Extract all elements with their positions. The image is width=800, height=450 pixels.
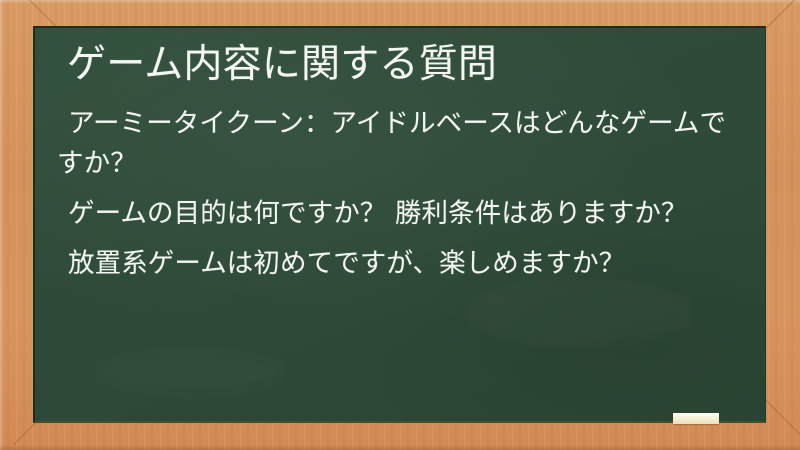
chalk-smudge	[465, 278, 695, 348]
frame-bevel-top	[0, 0, 800, 4]
list-item: アーミータイクーン：アイドルベースはどんなゲームですか？	[57, 104, 747, 184]
frame-bevel-left	[0, 0, 4, 450]
list-item: ゲームの目的は何ですか？ 勝利条件はありますか？	[57, 194, 747, 234]
question-list: アーミータイクーン：アイドルベースはどんなゲームですか？ ゲームの目的は何ですか…	[57, 104, 747, 284]
chalk-smudge	[95, 348, 285, 396]
chalk-stick	[673, 413, 719, 424]
chalkboard-scene: ゲーム内容に関する質問 アーミータイクーン：アイドルベースはどんなゲームですか？…	[0, 0, 800, 450]
chalkboard-surface: ゲーム内容に関する質問 アーミータイクーン：アイドルベースはどんなゲームですか？…	[33, 26, 766, 423]
list-item: 放置系ゲームは初めてですが、楽しめますか？	[57, 244, 747, 284]
frame-bevel-bottom	[0, 445, 800, 450]
page-title: ゲーム内容に関する質問	[67, 38, 497, 92]
